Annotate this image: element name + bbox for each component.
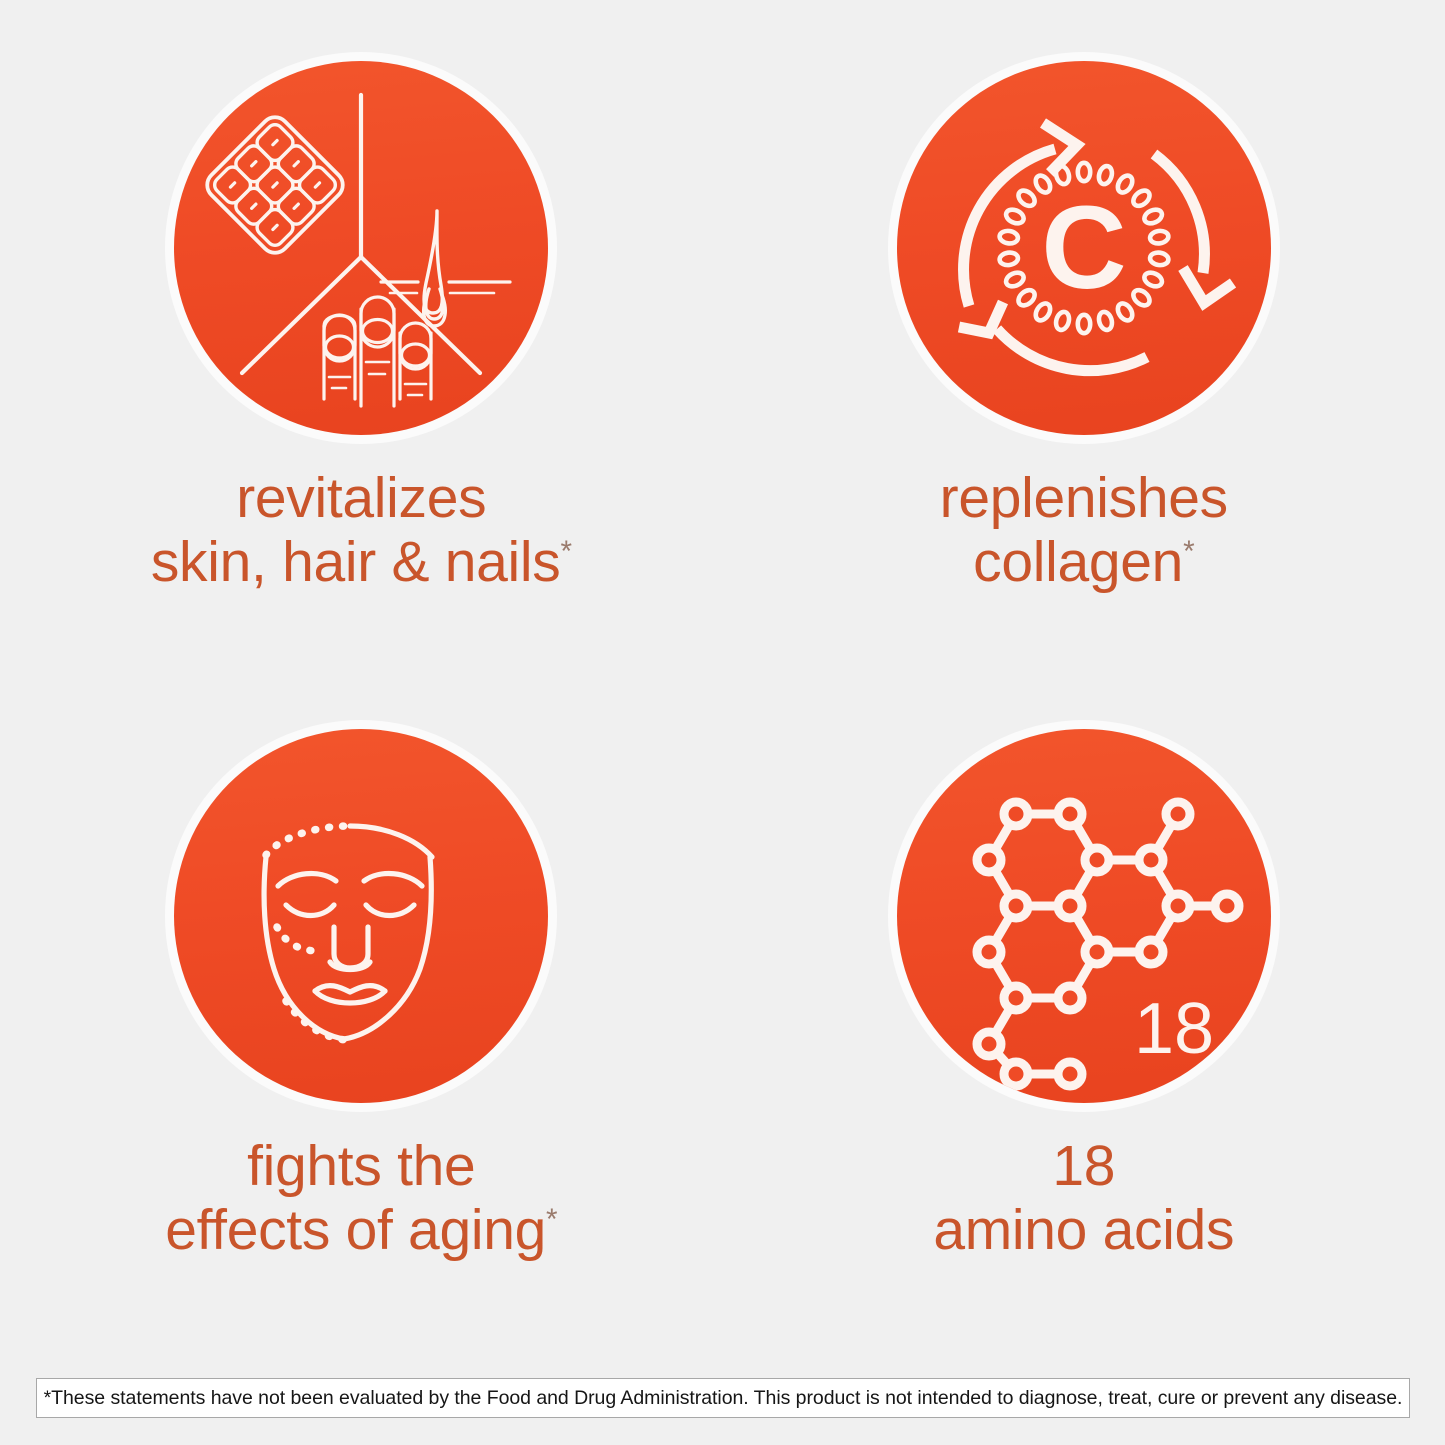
amino-acid-count-badge: 18 [1134, 989, 1214, 1069]
disc-background [174, 729, 548, 1103]
collagen-letter: C [1041, 182, 1126, 314]
disc-background: C [897, 61, 1271, 435]
benefit-caption: revitalizes skin, hair & nails* [151, 466, 572, 595]
benefit-caption-line-2: collagen* [940, 530, 1228, 594]
benefit-caption-line-2-text: effects of aging [165, 1198, 546, 1262]
icon-disc-wrapper: C [888, 52, 1280, 444]
benefit-caption-line-1: fights the [165, 1134, 557, 1198]
disc-background [174, 61, 548, 435]
face-aging-icon [174, 729, 548, 1103]
benefits-grid: revitalizes skin, hair & nails* [0, 0, 1445, 1360]
benefit-card-18-amino-acids: 18 18 amino acids [723, 680, 1445, 1360]
benefit-caption-line-2-text: amino acids [933, 1198, 1234, 1262]
skin-hair-nails-icon [174, 61, 548, 435]
benefit-caption-line-2: amino acids [933, 1198, 1234, 1262]
fda-disclaimer-box: *These statements have not been evaluate… [36, 1378, 1410, 1418]
benefit-caption-line-1: 18 [933, 1134, 1234, 1198]
icon-disc-wrapper [165, 720, 557, 1112]
asterisk-marker: * [1183, 535, 1194, 568]
amino-acid-molecule-icon: 18 [897, 729, 1271, 1103]
benefit-caption-line-2-text: collagen [973, 530, 1183, 594]
asterisk-marker: * [560, 535, 571, 568]
benefit-caption: replenishes collagen* [940, 466, 1228, 595]
disc-background: 18 [897, 729, 1271, 1103]
collagen-cycle-icon: C [897, 61, 1271, 435]
benefit-caption-line-2: effects of aging* [165, 1198, 557, 1262]
benefit-caption-line-2-text: skin, hair & nails [151, 530, 561, 594]
benefit-caption-line-1: revitalizes [151, 466, 572, 530]
benefit-caption: fights the effects of aging* [165, 1134, 557, 1263]
benefits-infographic: revitalizes skin, hair & nails* [0, 0, 1445, 1445]
icon-disc-wrapper: 18 [888, 720, 1280, 1112]
benefit-card-revitalizes-skin-hair-nails: revitalizes skin, hair & nails* [0, 0, 723, 680]
fda-disclaimer-text: *These statements have not been evaluate… [44, 1387, 1403, 1410]
benefit-card-fights-effects-of-aging: fights the effects of aging* [0, 680, 723, 1360]
benefit-caption-line-2: skin, hair & nails* [151, 530, 572, 594]
benefit-caption: 18 amino acids [933, 1134, 1234, 1263]
icon-disc-wrapper [165, 52, 557, 444]
benefit-card-replenishes-collagen: C replenishes collagen* [723, 0, 1445, 680]
asterisk-marker: * [546, 1203, 557, 1236]
benefit-caption-line-1: replenishes [940, 466, 1228, 530]
